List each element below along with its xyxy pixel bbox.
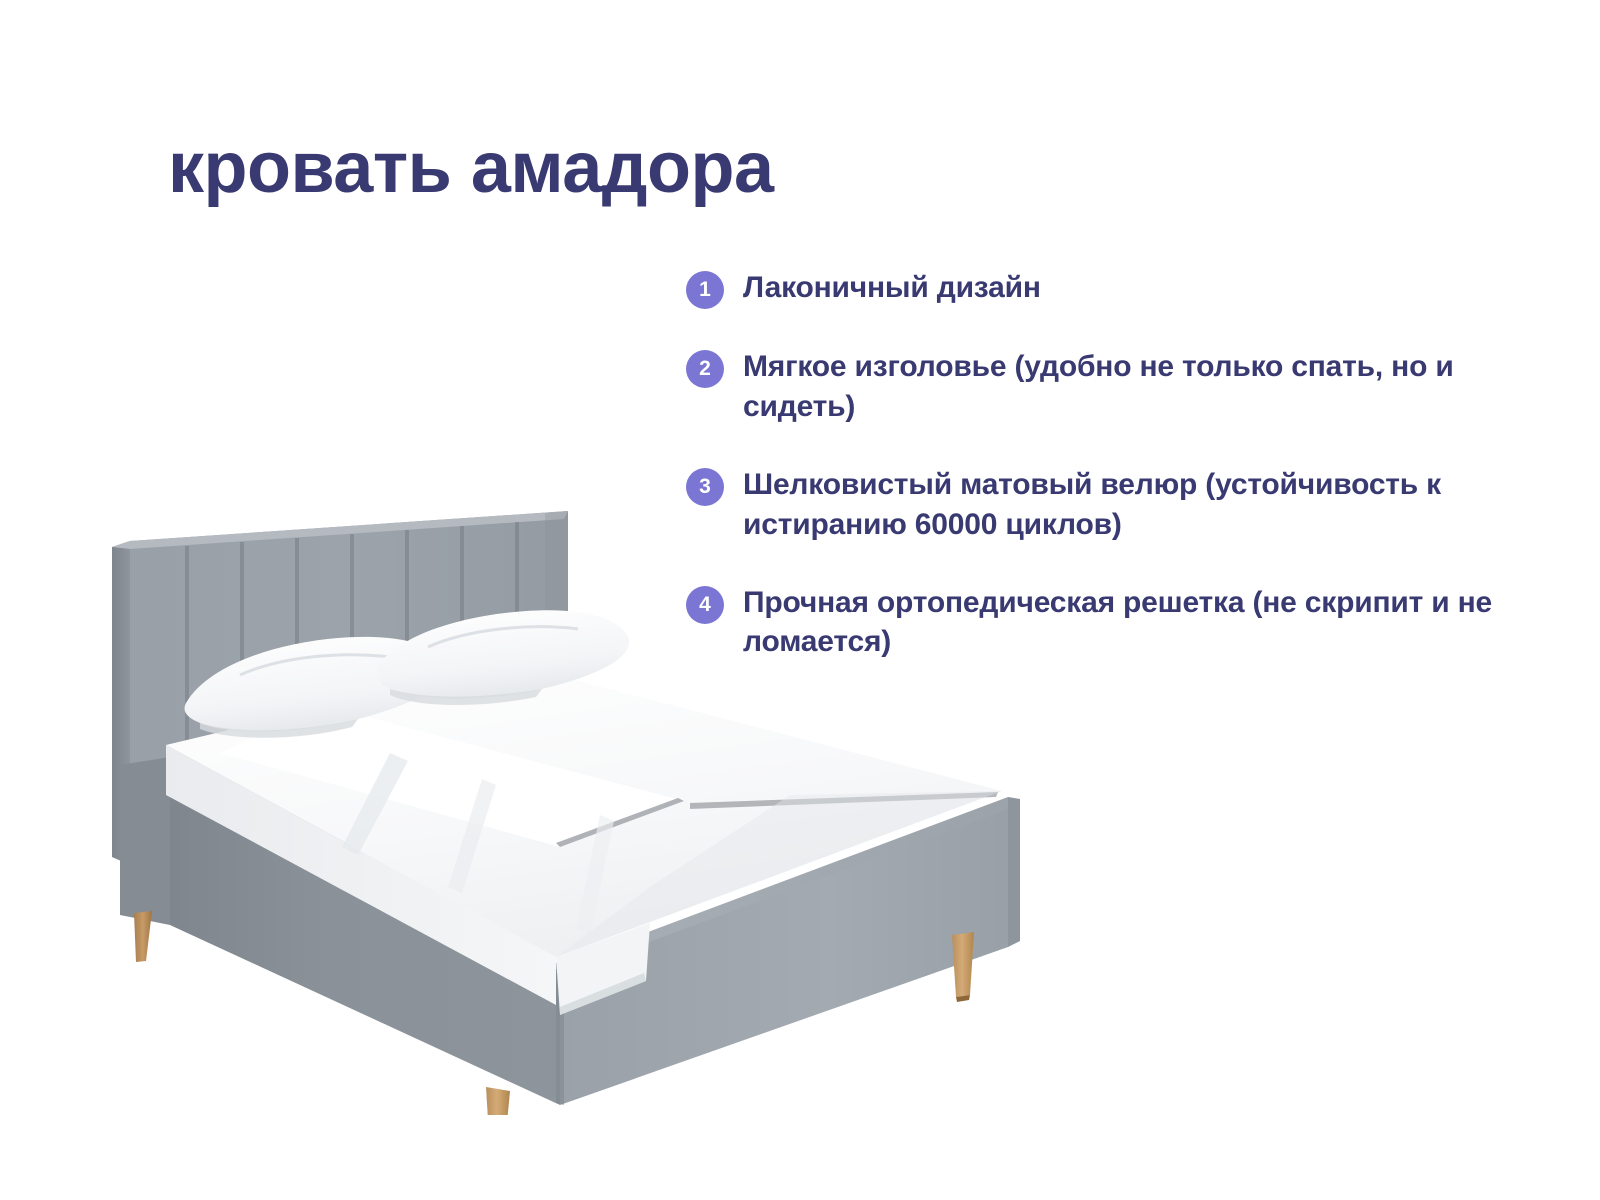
list-item: 2 Мягкое изголовье (удобно не только спа…	[686, 347, 1506, 427]
product-image-bed	[90, 495, 1100, 1115]
feature-number-badge: 1	[686, 271, 724, 309]
feature-text: Лаконичный дизайн	[743, 268, 1041, 308]
leg-back-left	[134, 911, 152, 962]
feature-number-badge: 2	[686, 350, 724, 388]
frame-foot-end-cap	[1008, 797, 1020, 947]
feature-text: Мягкое изголовье (удобно не только спать…	[743, 347, 1506, 427]
frame-left-side-panel	[120, 757, 170, 925]
page-title: кровать амадора	[168, 132, 773, 204]
list-item: 1 Лаконичный дизайн	[686, 268, 1506, 309]
leg-front-right	[952, 932, 974, 1002]
leg-front-left	[486, 1087, 510, 1115]
